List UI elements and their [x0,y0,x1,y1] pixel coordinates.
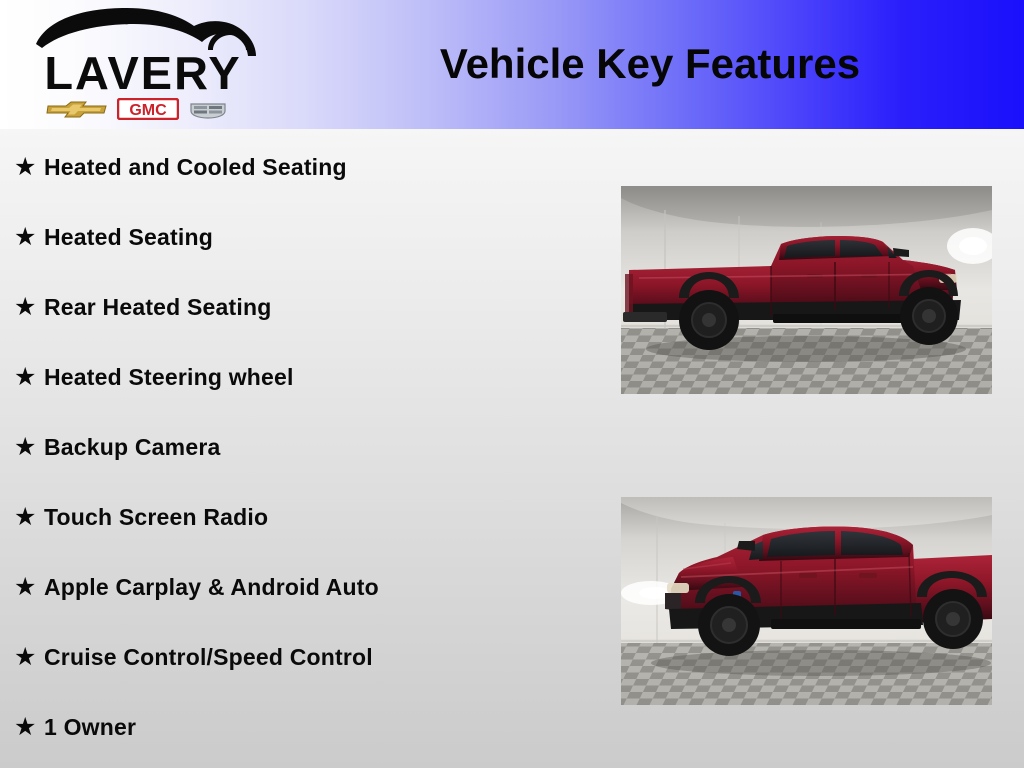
star-icon: ★ [14,155,44,180]
vehicle-photo-passenger-side [621,186,992,394]
feature-label: Cruise Control/Speed Control [44,644,373,671]
gmc-logo-icon: GMC [117,98,179,120]
page-title: Vehicle Key Features [300,38,1000,90]
svg-text:GMC: GMC [129,102,167,119]
chevrolet-bowtie-icon [46,99,108,119]
star-icon: ★ [14,715,44,740]
dealer-logo: LAVERY GMC [18,4,268,126]
feature-label: Apple Carplay & Android Auto [44,574,379,601]
star-icon: ★ [14,225,44,250]
logo-wordmark: LAVERY [18,50,269,96]
star-icon: ★ [14,645,44,670]
list-item: ★ Heated Seating [0,202,600,272]
feature-label: Heated Seating [44,224,213,251]
feature-label: Heated Steering wheel [44,364,294,391]
list-item: ★ 1 Owner [0,692,600,762]
star-icon: ★ [14,365,44,390]
truck-side-view-image [621,186,992,394]
star-icon: ★ [14,435,44,460]
star-icon: ★ [14,575,44,600]
list-item: ★ Heated Steering wheel [0,342,600,412]
brand-badges: GMC [46,96,246,122]
page-header: LAVERY GMC Vehicle Key Features [0,0,1024,129]
vehicle-photo-driver-side [621,497,992,705]
feature-label: 1 Owner [44,714,136,741]
list-item: ★ Heated and Cooled Seating [0,132,600,202]
list-item: ★ Cruise Control/Speed Control [0,622,600,692]
list-item: ★ Rear Heated Seating [0,272,600,342]
feature-label: Backup Camera [44,434,220,461]
cadillac-crest-icon [188,99,228,119]
list-item: ★ Touch Screen Radio [0,482,600,552]
feature-label: Heated and Cooled Seating [44,154,347,181]
feature-label: Rear Heated Seating [44,294,272,321]
list-item: ★ Apple Carplay & Android Auto [0,552,600,622]
list-item: ★ Backup Camera [0,412,600,482]
feature-label: Touch Screen Radio [44,504,268,531]
vehicle-features-list: ★ Heated and Cooled Seating ★ Heated Sea… [0,132,600,762]
star-icon: ★ [14,505,44,530]
truck-side-view-image [621,497,992,705]
star-icon: ★ [14,295,44,320]
